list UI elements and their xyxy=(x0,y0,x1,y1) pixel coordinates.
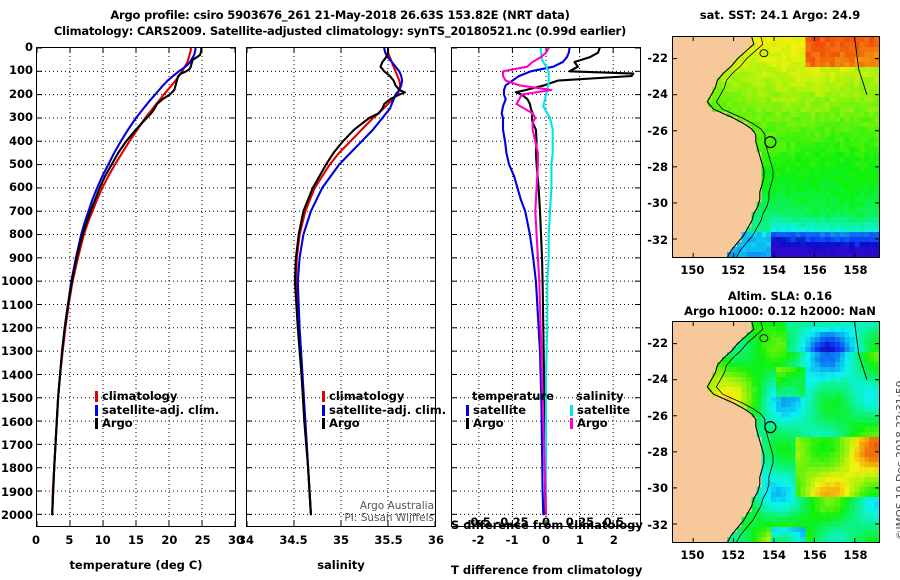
temperature-axis-label: temperature (deg C) xyxy=(36,558,236,572)
temperature-profile-panel xyxy=(36,47,236,527)
depth-tick-200: 200 xyxy=(0,87,33,101)
sst-map-lat-tick--32: -32 xyxy=(642,233,668,247)
sla-map-lon-tick-156: 156 xyxy=(793,548,837,562)
legend-swatch-sal-satellite xyxy=(570,405,573,416)
depth-tick-1700: 1700 xyxy=(0,438,33,452)
legend-label-argo: Argo xyxy=(102,417,133,431)
salinity-axis-label: salinity xyxy=(246,558,436,572)
sla-map-title-line1: Altim. SLA: 0.16 xyxy=(660,289,900,303)
sst-map-svg xyxy=(673,37,879,257)
sst-map xyxy=(672,36,880,258)
legend-swatch-sal-argo xyxy=(570,418,573,429)
copyright-text: ©IMOS 19-Dec-2018 22:31:59 xyxy=(895,381,900,540)
sla-map-lat-tick--24: -24 xyxy=(642,372,668,386)
difference-legend-salinity: salinity satellite Argo xyxy=(570,390,630,431)
difference-plot-svg xyxy=(452,48,640,526)
sla-map-lat-tick--28: -28 xyxy=(642,445,668,459)
sla-map-lon-tick-150: 150 xyxy=(670,548,714,562)
legend-label-temp-satellite: satellite xyxy=(473,404,526,418)
salinity-tick-34: 34 xyxy=(221,533,271,547)
legend-label-sal-satellite: satellite xyxy=(577,404,630,418)
depth-tick-600: 600 xyxy=(0,180,33,194)
salinity-tick-35: 35 xyxy=(316,533,366,547)
depth-tick-1200: 1200 xyxy=(0,321,33,335)
sla-map-lat-tick--26: -26 xyxy=(642,409,668,423)
difference-legend-temperature: temperature satellite Argo xyxy=(466,390,554,431)
legend-swatch-argo xyxy=(95,418,98,429)
temperature-plot-svg xyxy=(37,48,235,526)
depth-tick-1400: 1400 xyxy=(0,368,33,382)
difference-profile-panel xyxy=(451,47,641,527)
legend-label-temp-argo: Argo xyxy=(473,417,504,431)
depth-tick-300: 300 xyxy=(0,110,33,124)
legend-label-sal-argo: Argo xyxy=(577,417,608,431)
sst-map-lon-tick-156: 156 xyxy=(793,263,837,277)
sst-map-lat-tick--24: -24 xyxy=(642,87,668,101)
legend-group-title-salinity: salinity xyxy=(576,390,624,404)
legend-swatch-temp-satellite xyxy=(466,405,469,416)
depth-tick-2000: 2000 xyxy=(0,508,33,522)
depth-tick-1000: 1000 xyxy=(0,274,33,288)
depth-tick-1600: 1600 xyxy=(0,415,33,429)
attribution-line2: PI: Susan Wijffels xyxy=(236,512,434,524)
depth-tick-400: 400 xyxy=(0,134,33,148)
salinity-legend: climatology satellite-adj. clim. Argo xyxy=(322,390,446,431)
salinity-tick-35.5: 35.5 xyxy=(364,533,414,547)
figure-title-line1: Argo profile: csiro 5903676_261 21-May-2… xyxy=(0,8,680,22)
salinity-profile-panel xyxy=(246,47,436,527)
sla-map-lat-tick--32: -32 xyxy=(642,518,668,532)
temperature-difference-axis-label: T difference from climatology xyxy=(451,563,641,577)
depth-tick-1500: 1500 xyxy=(0,391,33,405)
sst-map-lat-tick--22: -22 xyxy=(642,51,668,65)
salinity-plot-svg xyxy=(247,48,435,526)
legend-label-satellite-adj: satellite-adj. clim. xyxy=(102,404,219,418)
sla-map-lat-tick--22: -22 xyxy=(642,336,668,350)
depth-tick-500: 500 xyxy=(0,157,33,171)
legend-group-title-temperature: temperature xyxy=(472,390,554,404)
legend-label-satellite-adj-sal: satellite-adj. clim. xyxy=(329,404,446,418)
sla-map-lat-tick--30: -30 xyxy=(642,481,668,495)
salinity-tick-34.5: 34.5 xyxy=(269,533,319,547)
depth-tick-800: 800 xyxy=(0,227,33,241)
sst-map-lat-tick--26: -26 xyxy=(642,124,668,138)
temperature-legend: climatology satellite-adj. clim. Argo xyxy=(95,390,219,431)
sla-map-lon-tick-152: 152 xyxy=(711,548,755,562)
sst-map-lat-tick--28: -28 xyxy=(642,160,668,174)
legend-swatch-argo-sal xyxy=(322,418,325,429)
sla-map-title-line2: Argo h1000: 0.12 h2000: NaN xyxy=(660,304,900,318)
legend-label-climatology: climatology xyxy=(102,390,177,404)
depth-tick-1100: 1100 xyxy=(0,298,33,312)
depth-tick-900: 900 xyxy=(0,251,33,265)
attribution-line1: Argo Australia xyxy=(236,500,434,512)
legend-swatch-climatology-sal xyxy=(322,391,325,402)
legend-label-argo-sal: Argo xyxy=(329,417,360,431)
sla-map-lon-tick-154: 154 xyxy=(752,548,796,562)
sst-map-lon-tick-154: 154 xyxy=(752,263,796,277)
sla-map xyxy=(672,321,880,543)
sst-map-lon-tick-150: 150 xyxy=(670,263,714,277)
legend-label-climatology-sal: climatology xyxy=(329,390,404,404)
s-difference-tick-0.5: 0.5 xyxy=(589,515,639,529)
depth-tick-0: 0 xyxy=(0,40,33,54)
sst-map-title: sat. SST: 24.1 Argo: 24.9 xyxy=(660,8,900,22)
depth-tick-100: 100 xyxy=(0,63,33,77)
sst-map-lon-tick-152: 152 xyxy=(711,263,755,277)
legend-swatch-satellite-adj-sal xyxy=(322,405,325,416)
attribution-block: Argo Australia PI: Susan Wijffels xyxy=(236,500,434,524)
legend-swatch-temp-argo xyxy=(466,418,469,429)
figure-title-line2: Climatology: CARS2009. Satellite-adjuste… xyxy=(0,24,680,38)
sla-map-lon-tick-158: 158 xyxy=(834,548,878,562)
depth-tick-1800: 1800 xyxy=(0,461,33,475)
t-difference-tick-2: 2 xyxy=(589,533,639,547)
depth-tick-1900: 1900 xyxy=(0,485,33,499)
sst-map-lat-tick--30: -30 xyxy=(642,196,668,210)
depth-tick-1300: 1300 xyxy=(0,344,33,358)
legend-swatch-climatology xyxy=(95,391,98,402)
sst-map-lon-tick-158: 158 xyxy=(834,263,878,277)
legend-swatch-satellite-adj xyxy=(95,405,98,416)
sla-map-svg xyxy=(673,322,879,542)
depth-tick-700: 700 xyxy=(0,204,33,218)
